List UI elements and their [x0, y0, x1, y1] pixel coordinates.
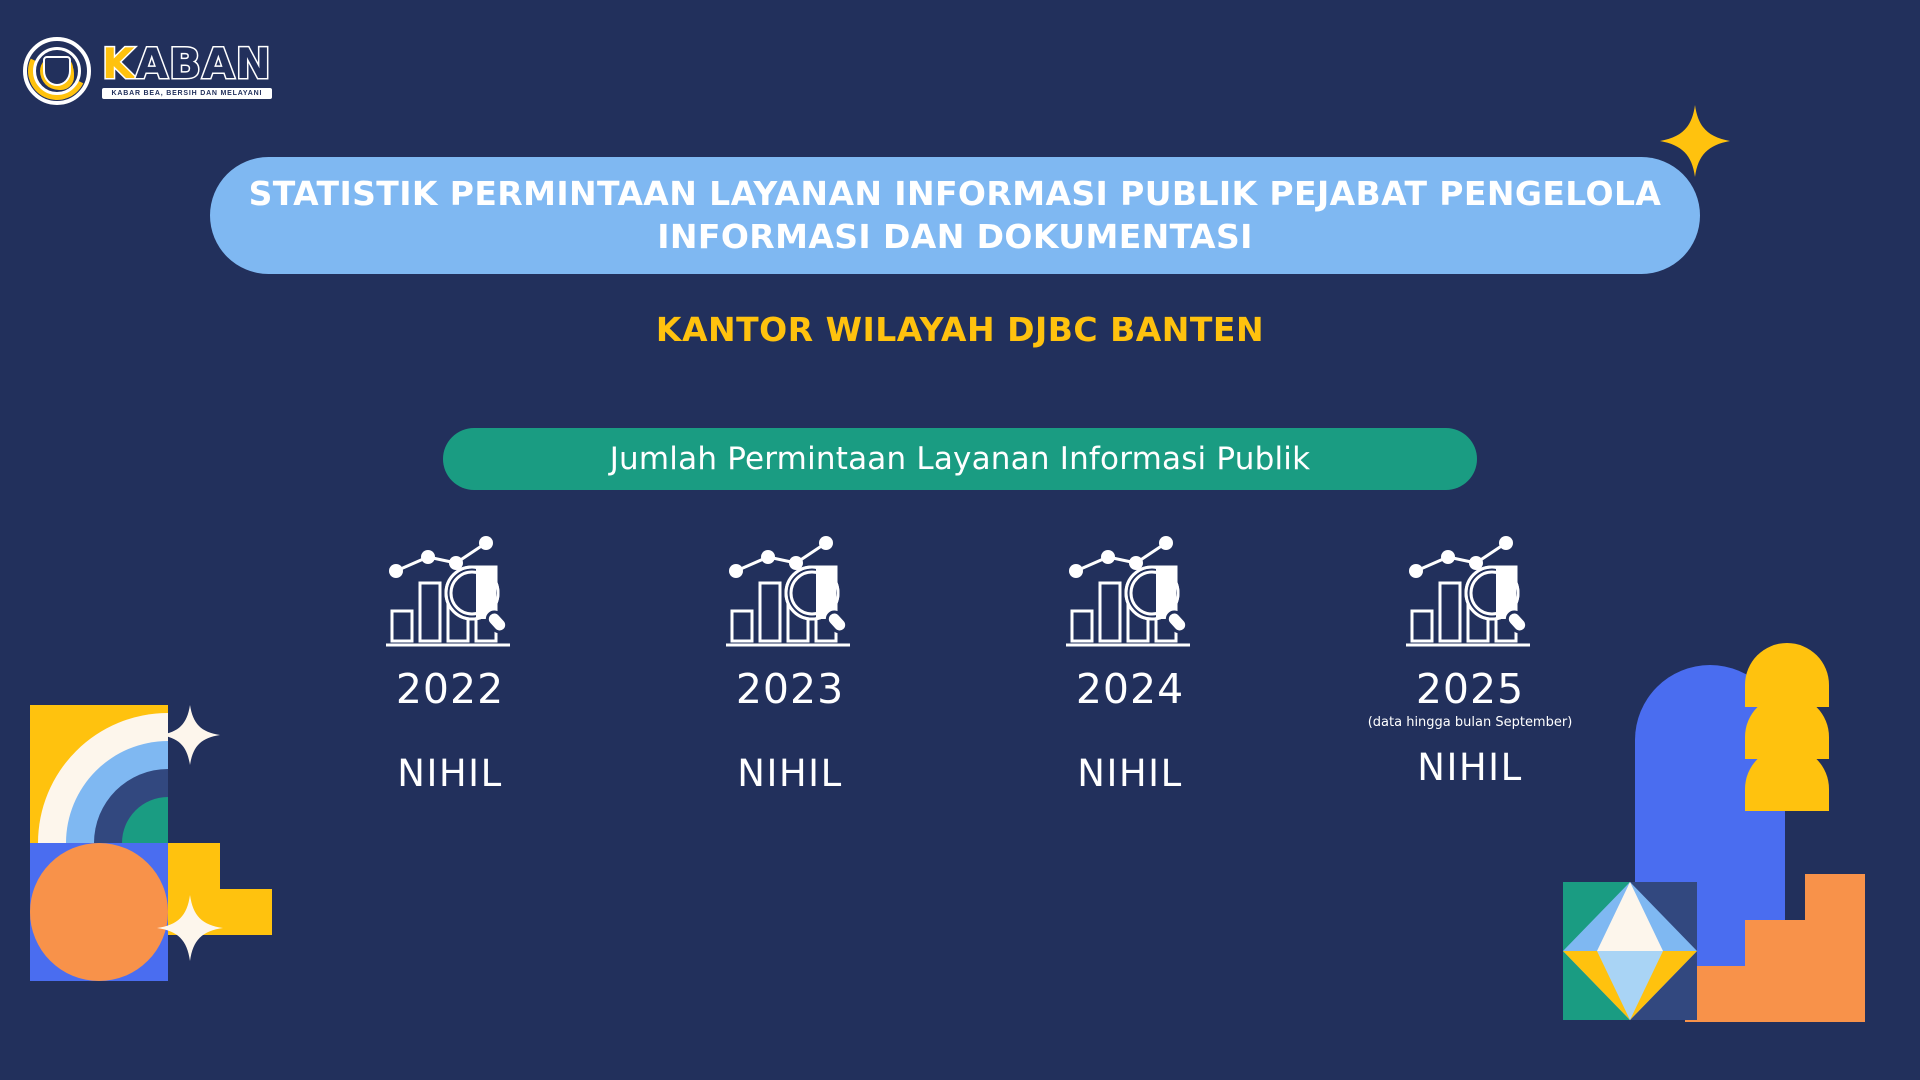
- page-title: STATISTIK PERMINTAAN LAYANAN INFORMASI P…: [244, 173, 1666, 257]
- year-value: NIHIL: [1417, 749, 1522, 786]
- kaban-wordmark-k: K: [102, 39, 136, 88]
- kaban-tagline: KABAR BEA, BERSIH DAN MELAYANI: [102, 88, 272, 99]
- kaban-emblem-icon: [20, 34, 94, 108]
- bar-chart-magnifier-icon: [380, 525, 520, 655]
- year-value: NIHIL: [397, 755, 502, 792]
- section-label-banner: Jumlah Permintaan Layanan Informasi Publ…: [443, 428, 1477, 490]
- year-label: 2024: [1076, 669, 1184, 710]
- year-cards: 2022 NIHIL: [300, 525, 1620, 792]
- page-subtitle: KANTOR WILAYAH DJBC BANTEN: [0, 310, 1920, 349]
- year-card: 2022 NIHIL: [300, 525, 600, 792]
- diamond-tile: [1563, 882, 1697, 1020]
- year-value: NIHIL: [737, 755, 842, 792]
- year-label: 2022: [396, 669, 504, 710]
- year-card: 2024 NIHIL: [980, 525, 1280, 792]
- bar-chart-magnifier-icon: [1400, 525, 1540, 655]
- infographic-canvas: KABAN KABAR BEA, BERSIH DAN MELAYANI STA…: [0, 0, 1920, 1080]
- title-banner: STATISTIK PERMINTAAN LAYANAN INFORMASI P…: [210, 157, 1700, 274]
- year-card: 2023 NIHIL: [640, 525, 940, 792]
- decor-bottom-right: [1545, 610, 1920, 1030]
- kaban-wordmark-rest: ABAN: [136, 39, 272, 88]
- kaban-wordmark-text: KABAN: [102, 43, 272, 85]
- kaban-logo: KABAN KABAR BEA, BERSIH DAN MELAYANI: [20, 32, 270, 110]
- bar-chart-magnifier-icon: [1060, 525, 1200, 655]
- year-note: (data hingga bulan September): [1368, 716, 1573, 729]
- kaban-wordmark: KABAN KABAR BEA, BERSIH DAN MELAYANI: [102, 43, 272, 99]
- year-label: 2025: [1416, 669, 1524, 710]
- bar-chart-magnifier-icon: [720, 525, 860, 655]
- decor-bottom-left: [30, 705, 330, 1045]
- year-label: 2023: [736, 669, 844, 710]
- section-label: Jumlah Permintaan Layanan Informasi Publ…: [610, 441, 1311, 477]
- year-value: NIHIL: [1077, 755, 1182, 792]
